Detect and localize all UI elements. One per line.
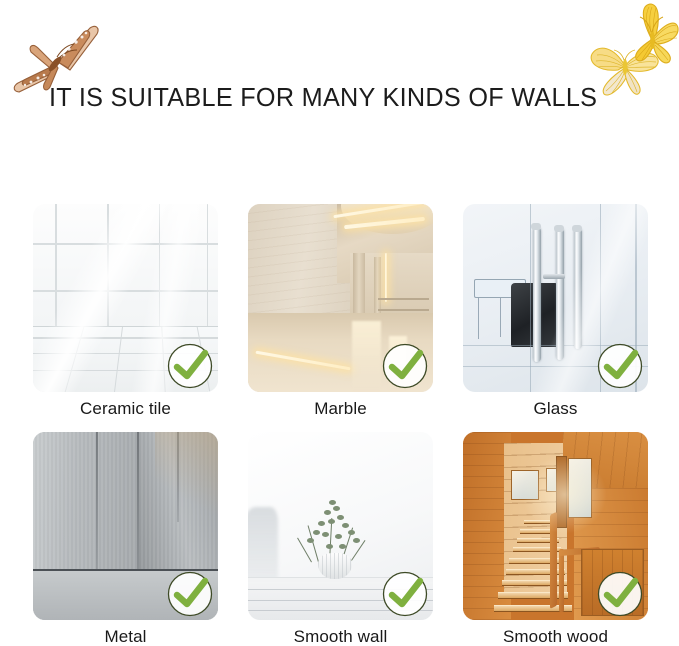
surface-card-glass[interactable]: Glass (463, 204, 648, 420)
surface-label-smooth-wall: Smooth wall (248, 626, 433, 646)
check-badge-glass-icon (596, 342, 644, 390)
surface-label-glass: Glass (463, 398, 648, 420)
surface-image-smooth-wood (463, 432, 648, 620)
surface-label-ceramic-tile: Ceramic tile (33, 398, 218, 420)
surface-card-smooth-wood[interactable]: Smooth wood (463, 432, 648, 646)
surface-label-marble: Marble (248, 398, 433, 420)
surface-grid: Ceramic tile (33, 204, 648, 646)
page-title: IT IS SUITABLE FOR MANY KINDS OF WALLS (49, 82, 597, 113)
surface-label-metal: Metal (33, 626, 218, 646)
surface-card-ceramic-tile[interactable]: Ceramic tile (33, 204, 218, 420)
surface-card-smooth-wall[interactable]: Smooth wall (248, 432, 433, 646)
surface-card-metal[interactable]: Metal (33, 432, 218, 646)
check-badge-metal-icon (166, 570, 214, 618)
check-badge-smooth-wood-icon (596, 570, 644, 618)
surface-label-smooth-wood: Smooth wood (463, 626, 648, 646)
surface-image-metal (33, 432, 218, 620)
header-banner: IT IS SUITABLE FOR MANY KINDS OF WALLS (0, 0, 679, 150)
surface-image-smooth-wall (248, 432, 433, 620)
check-badge-smooth-wall-icon (381, 570, 429, 618)
butterfly-right-front-icon (624, 2, 679, 72)
surface-card-marble[interactable]: Marble (248, 204, 433, 420)
surface-image-glass (463, 204, 648, 392)
check-badge-ceramic-tile-icon (166, 342, 214, 390)
surface-image-ceramic-tile (33, 204, 218, 392)
surface-image-marble (248, 204, 433, 392)
check-badge-marble-icon (381, 342, 429, 390)
butterfly-right-back-icon (588, 36, 660, 98)
